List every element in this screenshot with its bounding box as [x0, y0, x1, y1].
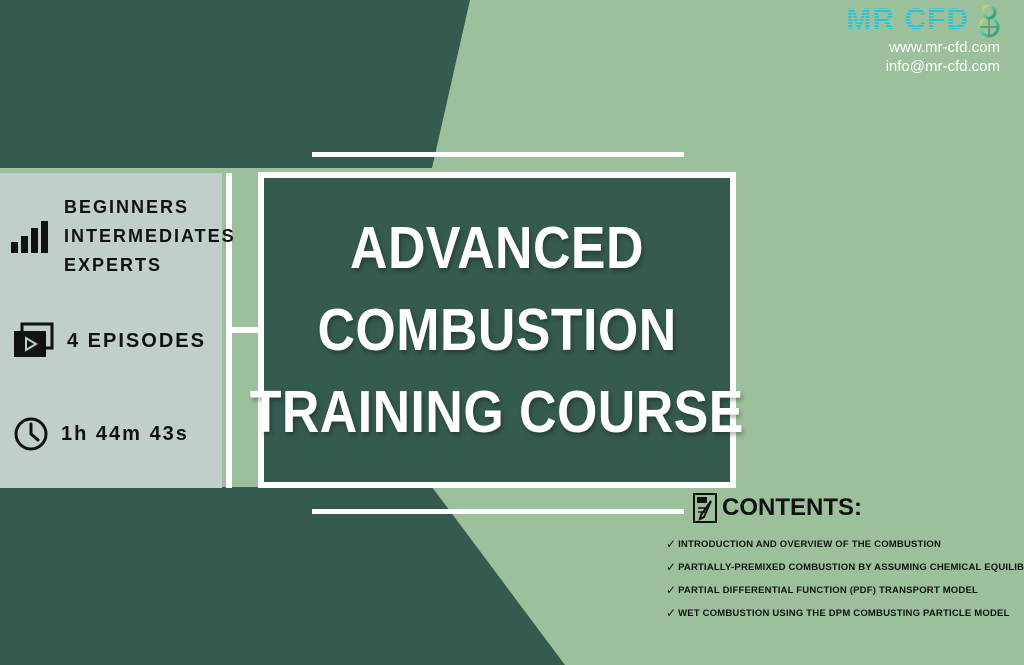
- contents-item-label: PARTIAL DIFFERENTIAL FUNCTION (PDF) TRAN…: [678, 584, 978, 597]
- audience-levels-list: BEGINNERS INTERMEDIATES EXPERTS: [64, 193, 236, 280]
- list-item: ✓ INTRODUCTION AND OVERVIEW OF THE COMBU…: [666, 538, 1016, 551]
- title-line-3: TRAINING COURSE: [250, 375, 744, 449]
- check-icon: ✓: [666, 538, 676, 551]
- list-item: ✓ PARTIALLY-PREMIXED COMBUSTION BY ASSUM…: [666, 561, 1016, 574]
- contents-item-label: INTRODUCTION AND OVERVIEW OF THE COMBUST…: [678, 538, 941, 551]
- clock-icon: [12, 415, 50, 453]
- episodes-row: 4 EPISODES: [12, 322, 206, 360]
- list-item: ✓ WET COMBUSTION USING THE DPM COMBUSTIN…: [666, 607, 1016, 620]
- video-play-icon: [12, 322, 56, 360]
- logo-email[interactable]: info@mr-cfd.com: [846, 58, 1000, 76]
- audience-level-item: EXPERTS: [64, 251, 236, 280]
- contents-header: CONTENTS:: [692, 492, 862, 524]
- title-line-2: COMBUSTION: [317, 293, 676, 367]
- decorative-rule-top: [312, 152, 684, 157]
- notepad-pen-icon: [692, 492, 718, 524]
- audience-level-item: BEGINNERS: [64, 193, 236, 222]
- duration-row: 1h 44m 43s: [12, 415, 189, 453]
- audience-levels-row: BEGINNERS INTERMEDIATES EXPERTS: [10, 193, 236, 280]
- contents-list: ✓ INTRODUCTION AND OVERVIEW OF THE COMBU…: [666, 538, 1016, 630]
- globe-d-icon: [978, 4, 1000, 38]
- audience-level-item: INTERMEDIATES: [64, 222, 236, 251]
- logo-website[interactable]: www.mr-cfd.com: [846, 39, 1000, 57]
- list-item: ✓ PARTIAL DIFFERENTIAL FUNCTION (PDF) TR…: [666, 584, 1016, 597]
- course-title: ADVANCED COMBUSTION TRAINING COURSE: [273, 187, 721, 473]
- contents-item-label: WET COMBUSTION USING THE DPM COMBUSTING …: [678, 607, 1010, 620]
- check-icon: ✓: [666, 584, 676, 597]
- panel-connector-line: [232, 327, 260, 333]
- decorative-rule-bottom: [312, 509, 684, 514]
- check-icon: ✓: [666, 607, 676, 620]
- duration-label: 1h 44m 43s: [61, 423, 189, 446]
- contents-heading: CONTENTS:: [722, 494, 862, 522]
- bar-chart-icon: [10, 220, 52, 254]
- check-icon: ✓: [666, 561, 676, 574]
- logo-wordmark: MR CFD: [846, 4, 969, 36]
- course-title-frame: ADVANCED COMBUSTION TRAINING COURSE: [258, 172, 736, 488]
- title-line-1: ADVANCED: [350, 211, 644, 285]
- course-poster: MR CFD www.mr-cfd.com info@mr-cfd.com: [0, 0, 1024, 665]
- contents-item-label: PARTIALLY-PREMIXED COMBUSTION BY ASSUMIN…: [678, 561, 1024, 574]
- episodes-label: 4 EPISODES: [67, 330, 206, 353]
- logo-mark: MR CFD: [846, 4, 1000, 38]
- brand-logo: MR CFD www.mr-cfd.com info@mr-cfd.com: [846, 4, 1000, 76]
